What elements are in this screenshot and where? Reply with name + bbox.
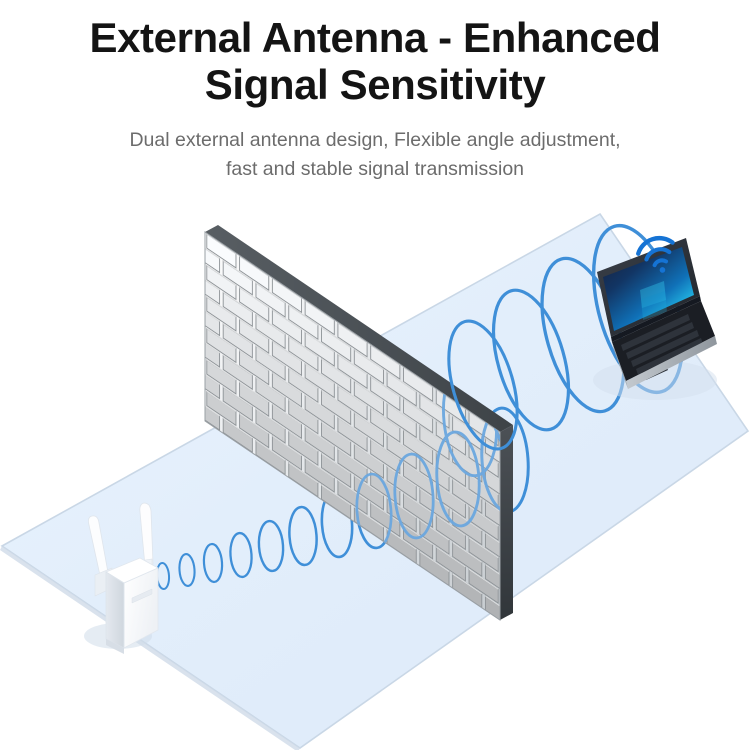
promo-graphic: External Antenna - Enhanced Signal Sensi… bbox=[0, 0, 750, 750]
scene-svg bbox=[0, 0, 750, 750]
isometric-illustration bbox=[0, 0, 750, 750]
